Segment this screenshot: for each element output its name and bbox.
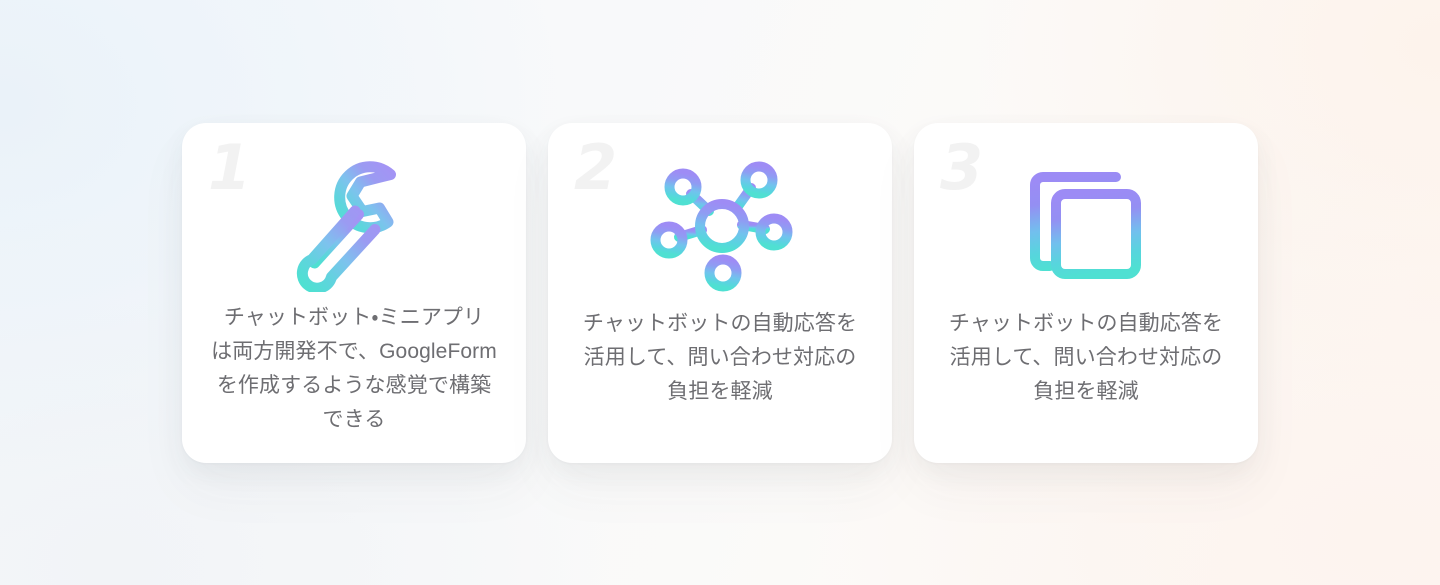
duplicate-add-icon: [1016, 154, 1156, 289]
feature-card-row: 1: [182, 123, 1258, 463]
card-icon-container: [548, 147, 892, 297]
card-icon-container: [914, 147, 1258, 297]
feature-cards-section: 1: [0, 0, 1440, 585]
feature-card-1[interactable]: 1: [182, 123, 526, 463]
feature-card-2[interactable]: 2: [548, 123, 892, 463]
card-description: チャットボットの自動応答を 活用して、問い合わせ対応の 負担を軽減: [936, 307, 1236, 409]
card-description: チャットボット・ミニアプリ は両方開発不で、GoogleForm を作成するよう…: [204, 301, 504, 437]
network-nodes-icon: [647, 152, 793, 292]
feature-card-3[interactable]: 3: [914, 123, 1258, 463]
wrench-icon: [289, 152, 419, 292]
card-description: チャットボットの自動応答を 活用して、問い合わせ対応の 負担を軽減: [570, 307, 870, 409]
card-icon-container: [182, 147, 526, 297]
